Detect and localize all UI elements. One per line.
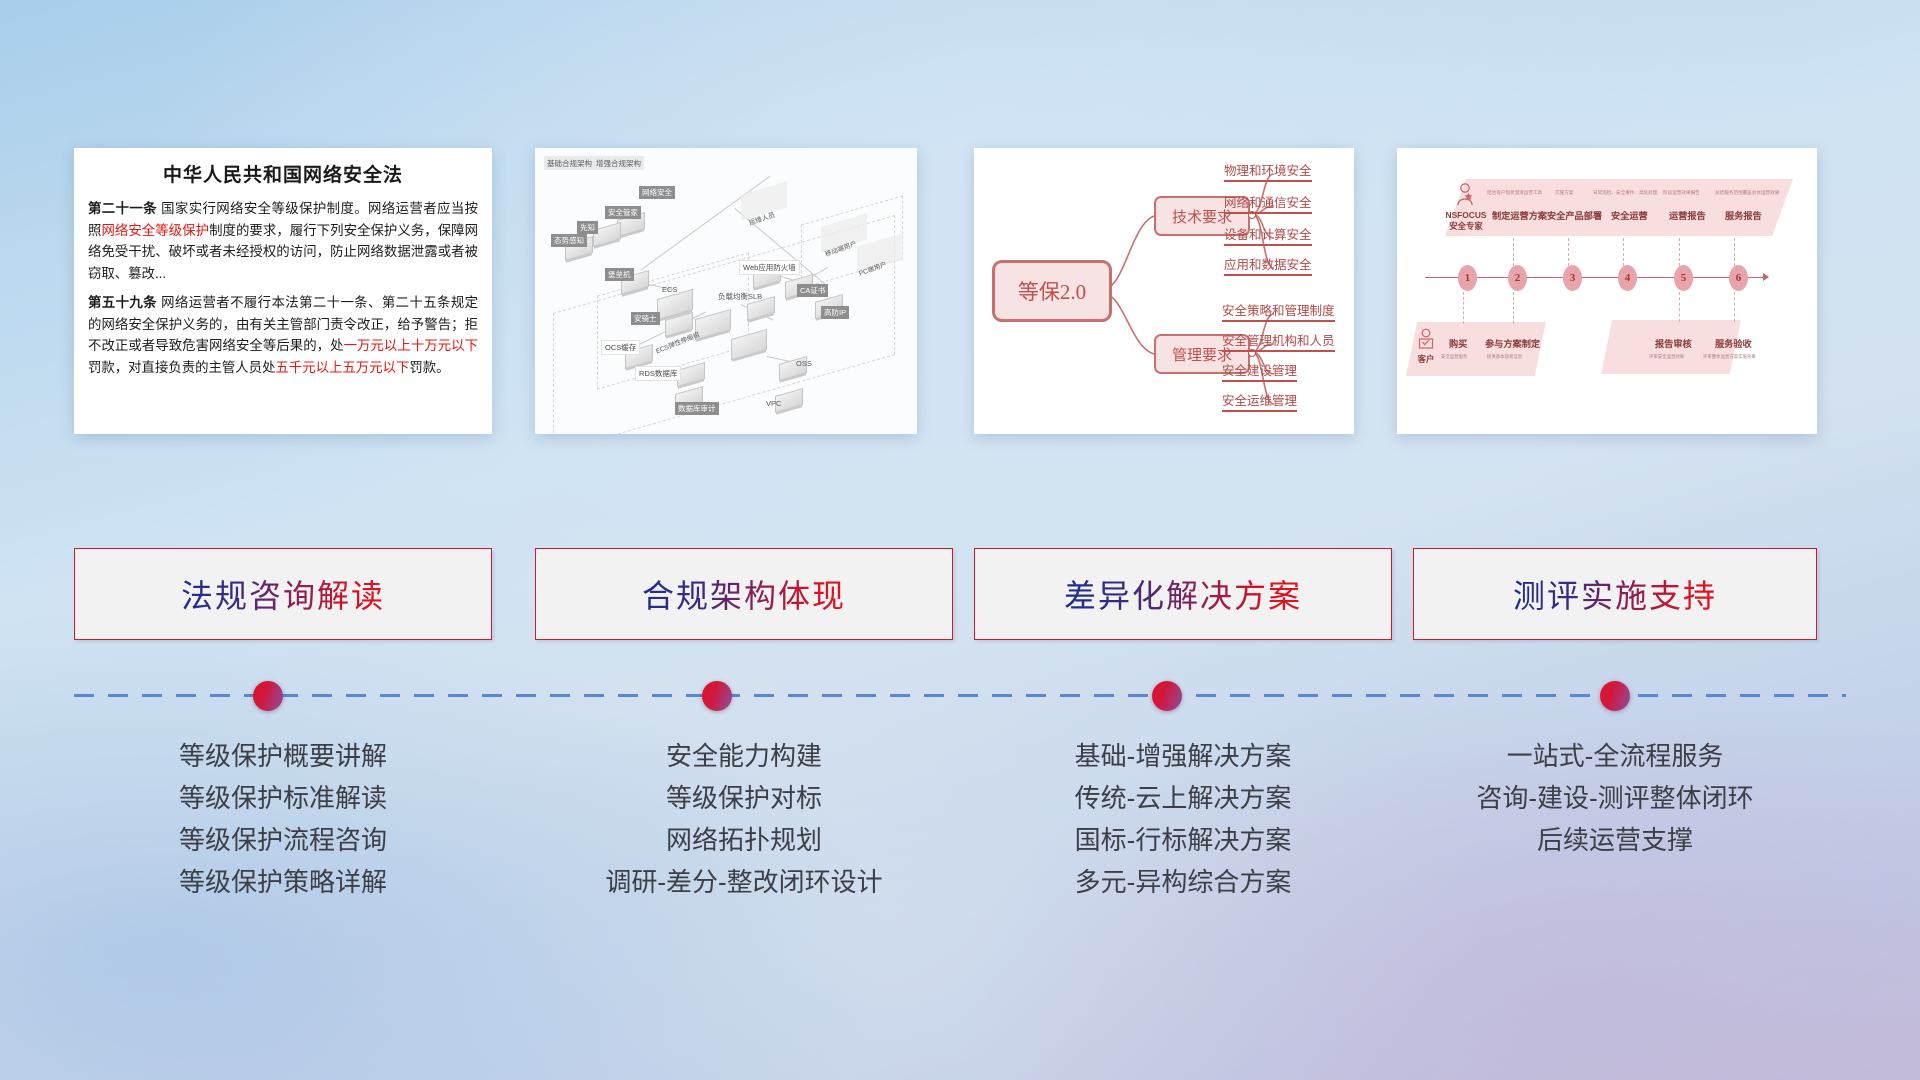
mindmap-leaf-ops: 安全运维管理: [1222, 390, 1297, 412]
service-flow-diagram: NSFOCUS 安全专家 客户 1 2 3 4 5: [1397, 148, 1817, 434]
section-title-box-2[interactable]: 差异化解决方案: [974, 548, 1392, 640]
flow-brand-line2: 安全专家: [1437, 221, 1495, 232]
flow-node-3[interactable]: 3: [1563, 265, 1582, 291]
feature-item: 网络拓扑规划: [535, 819, 953, 861]
mindmap-leaf-app-data: 应用和数据安全: [1224, 254, 1312, 276]
section-title-text-0: 法规咨询解读: [181, 571, 385, 617]
law-article-59-label: 第五十九条: [88, 295, 157, 310]
flow-brand-line1: NSFOCUS: [1437, 210, 1495, 221]
architecture-diagram: 基础合规架构 增强合规架构: [535, 148, 917, 434]
flow-brand-label: NSFOCUS 安全专家: [1437, 210, 1495, 231]
preview-cards-row: 中华人民共和国网络安全法 第二十一条 国家实行网络安全等级保护制度。网络运营者应…: [0, 148, 1920, 438]
arch-label-network-security: 网络安全: [639, 186, 675, 199]
flow-axis-arrow: [1763, 273, 1769, 281]
flow-step-5-title: 运营报告: [1669, 208, 1706, 222]
flow-customer-1-title: 购买: [1449, 336, 1467, 350]
feature-item: 一站式-全流程服务: [1413, 735, 1817, 777]
mindmap-leaf-build: 安全建设管理: [1222, 360, 1297, 382]
flow-conn-2: [1513, 238, 1514, 266]
feature-list-3: 一站式-全流程服务 咨询-建设-测评整体闭环 后续运营支撑: [1413, 735, 1817, 861]
arch-tab-basic[interactable]: 基础合规架构: [544, 156, 595, 170]
arch-tab-enhanced[interactable]: 增强合规架构: [593, 156, 644, 170]
customer-person-icon: [1417, 328, 1435, 352]
feature-item: 国标-行标解决方案: [974, 819, 1392, 861]
timeline-dot-0[interactable]: [253, 681, 283, 711]
flow-conn-c2: [1513, 292, 1514, 324]
arch-label-oss: OSS: [793, 358, 815, 369]
flow-conn-4: [1623, 238, 1624, 266]
feature-item: 后续运营支撑: [1413, 819, 1817, 861]
flow-conn-6: [1734, 238, 1735, 266]
mindmap-leaf-physical: 物理和环境安全: [1224, 160, 1312, 182]
expert-person-icon: [1455, 182, 1475, 208]
flow-node-5[interactable]: 5: [1674, 265, 1693, 291]
arch-label-anqishi: 安骑士: [631, 312, 660, 325]
arch-label-vpc: VPC: [763, 398, 784, 409]
flow-customer-3-title: 报告审核: [1655, 336, 1692, 350]
arch-label-ca: CA证书: [797, 284, 828, 297]
flow-node-6[interactable]: 6: [1729, 265, 1748, 291]
arch-label-xianzhi: 先知: [577, 221, 598, 234]
timeline-dashed-line: [74, 694, 1846, 697]
feature-item: 咨询-建设-测评整体闭环: [1413, 777, 1817, 819]
feature-item: 等级保护标准解读: [74, 777, 492, 819]
card-service-flow[interactable]: NSFOCUS 安全专家 客户 1 2 3 4 5: [1397, 148, 1817, 434]
feature-item: 调研-差分-整改闭环设计: [535, 861, 953, 903]
feature-item: 安全能力构建: [535, 735, 953, 777]
arch-label-db-audit: 数据库审计: [675, 402, 719, 415]
flow-customer-4-title: 服务验收: [1715, 336, 1752, 350]
feature-item: 基础-增强解决方案: [974, 735, 1392, 777]
card-cybersecurity-law[interactable]: 中华人民共和国网络安全法 第二十一条 国家实行网络安全等级保护制度。网络运营者应…: [74, 148, 492, 434]
law-article-59-highlight-2: 五千元以上五万元以下: [275, 360, 409, 375]
mindmap-leaf-device: 设备和计算安全: [1224, 224, 1312, 246]
flow-customer-1-sub: 安全运营服务: [1441, 354, 1467, 360]
flow-customer-3-sub: 评审安全运营效果: [1649, 354, 1684, 360]
timeline-dot-1[interactable]: [702, 681, 732, 711]
flow-node-1[interactable]: 1: [1458, 265, 1477, 291]
flow-step-4-title: 安全运营: [1611, 208, 1648, 222]
feature-item: 等级保护对标: [535, 777, 953, 819]
arch-label-waf: Web应用防火墙: [739, 260, 800, 275]
flow-conn-c1: [1463, 292, 1464, 324]
section-title-box-0[interactable]: 法规咨询解读: [74, 548, 492, 640]
arch-label-slb: 负载均衡SLB: [715, 290, 765, 303]
mindmap-root-node: 等保2.0: [992, 260, 1112, 322]
law-article-21: 第二十一条 国家实行网络安全等级保护制度。网络运营者应当按照网络安全等级保护制度…: [88, 198, 478, 285]
mindmap-leaf-network: 网络和通信安全: [1224, 192, 1312, 214]
flow-customer-2-sub: 提供基本现状信息: [1487, 354, 1522, 360]
law-article-59-text-b: 罚款，对直接负责的主管人员处: [88, 360, 275, 375]
law-article-59: 第五十九条 网络运营者不履行本法第二十一条、第二十五条规定的网络安全保护义务的，…: [88, 292, 478, 379]
arch-label-rds: RDS数据库: [635, 366, 681, 381]
flow-node-2[interactable]: 2: [1508, 265, 1527, 291]
law-article-21-label: 第二十一条: [88, 201, 157, 216]
flow-step-6-sub: 总结服务范围覆盖总体运营效果: [1715, 190, 1779, 196]
law-card-title: 中华人民共和国网络安全法: [88, 160, 478, 187]
flow-step-2-sub: 结合客户现状澄清运营工具: [1487, 190, 1542, 196]
section-title-text-1: 合规架构体现: [642, 571, 846, 617]
flow-conn-5: [1679, 238, 1680, 266]
flow-step-6-title: 服务报告: [1725, 208, 1762, 222]
timeline-connector: [0, 665, 1920, 725]
slide-canvas: 中华人民共和国网络安全法 第二十一条 国家实行网络安全等级保护制度。网络运营者应…: [0, 0, 1920, 1080]
timeline-dot-2[interactable]: [1152, 681, 1182, 711]
feature-item: 等级保护策略详解: [74, 861, 492, 903]
law-article-59-highlight-1: 一万元以上十万元以下: [344, 338, 478, 353]
card-mindmap-dengbao[interactable]: 等保2.0 技术要求 物理和环境安全 网络和通信安全 设备和计算安全 应用和数据…: [974, 148, 1354, 434]
law-card-body: 中华人民共和国网络安全法 第二十一条 国家实行网络安全等级保护制度。网络运营者应…: [74, 148, 492, 434]
arch-label-anti-ddos: 高防IP: [821, 306, 849, 319]
section-title-box-3[interactable]: 测评实施支持: [1413, 548, 1817, 640]
mindmap-leaf-org: 安全管理机构和人员: [1222, 330, 1335, 352]
arch-label-bastion: 堡垒机: [605, 268, 634, 281]
flow-conn-c4: [1734, 292, 1735, 322]
feature-lists-row: 等级保护概要讲解 等级保护标准解读 等级保护流程咨询 等级保护策略详解 安全能力…: [0, 735, 1920, 965]
law-article-59-text-c: 罚款。: [409, 360, 449, 375]
feature-item: 等级保护概要讲解: [74, 735, 492, 777]
flow-conn-3: [1568, 238, 1569, 266]
arch-label-ocs: OCS缓存: [601, 340, 640, 355]
flow-customer-4-sub: 评审整体运营方案实施效果: [1703, 354, 1756, 360]
arch-label-situation: 态势感知: [551, 234, 587, 247]
flow-step-3-sub: 实施方案: [1555, 190, 1573, 196]
timeline-dot-3[interactable]: [1600, 681, 1630, 711]
section-titles-row: 法规咨询解读 合规架构体现 差异化解决方案 测评实施支持: [0, 548, 1920, 640]
flow-step-3-title: 安全产品部署: [1547, 208, 1602, 222]
section-title-text-2: 差异化解决方案: [1064, 571, 1302, 617]
feature-item: 多元-异构综合方案: [974, 861, 1392, 903]
flow-step-5-sub: 阶段运营效果报告: [1663, 190, 1700, 196]
feature-list-0: 等级保护概要讲解 等级保护标准解读 等级保护流程咨询 等级保护策略详解: [74, 735, 492, 903]
flow-step-4-sub: 日常巡检、安全事件、高危处理: [1593, 190, 1657, 196]
flow-conn-c3: [1679, 292, 1680, 322]
law-article-21-highlight: 网络安全等级保护: [101, 223, 209, 238]
section-title-box-1[interactable]: 合规架构体现: [535, 548, 953, 640]
feature-list-2: 基础-增强解决方案 传统-云上解决方案 国标-行标解决方案 多元-异构综合方案: [974, 735, 1392, 903]
flow-step-2-title: 制定运营方案: [1492, 208, 1547, 222]
card-cloud-architecture[interactable]: 基础合规架构 增强合规架构: [535, 148, 917, 434]
feature-list-1: 安全能力构建 等级保护对标 网络拓扑规划 调研-差分-整改闭环设计: [535, 735, 953, 903]
mindmap-leaf-policy: 安全策略和管理制度: [1222, 300, 1335, 322]
arch-label-security-butler: 安全管家: [605, 206, 641, 219]
arch-label-ecs: ECS: [659, 284, 680, 295]
feature-item: 等级保护流程咨询: [74, 819, 492, 861]
feature-item: 传统-云上解决方案: [974, 777, 1392, 819]
flow-node-4[interactable]: 4: [1618, 265, 1637, 291]
section-title-text-3: 测评实施支持: [1513, 571, 1717, 617]
flow-customer-2-title: 参与方案制定: [1485, 336, 1540, 350]
flow-customer-label: 客户: [1413, 354, 1439, 365]
